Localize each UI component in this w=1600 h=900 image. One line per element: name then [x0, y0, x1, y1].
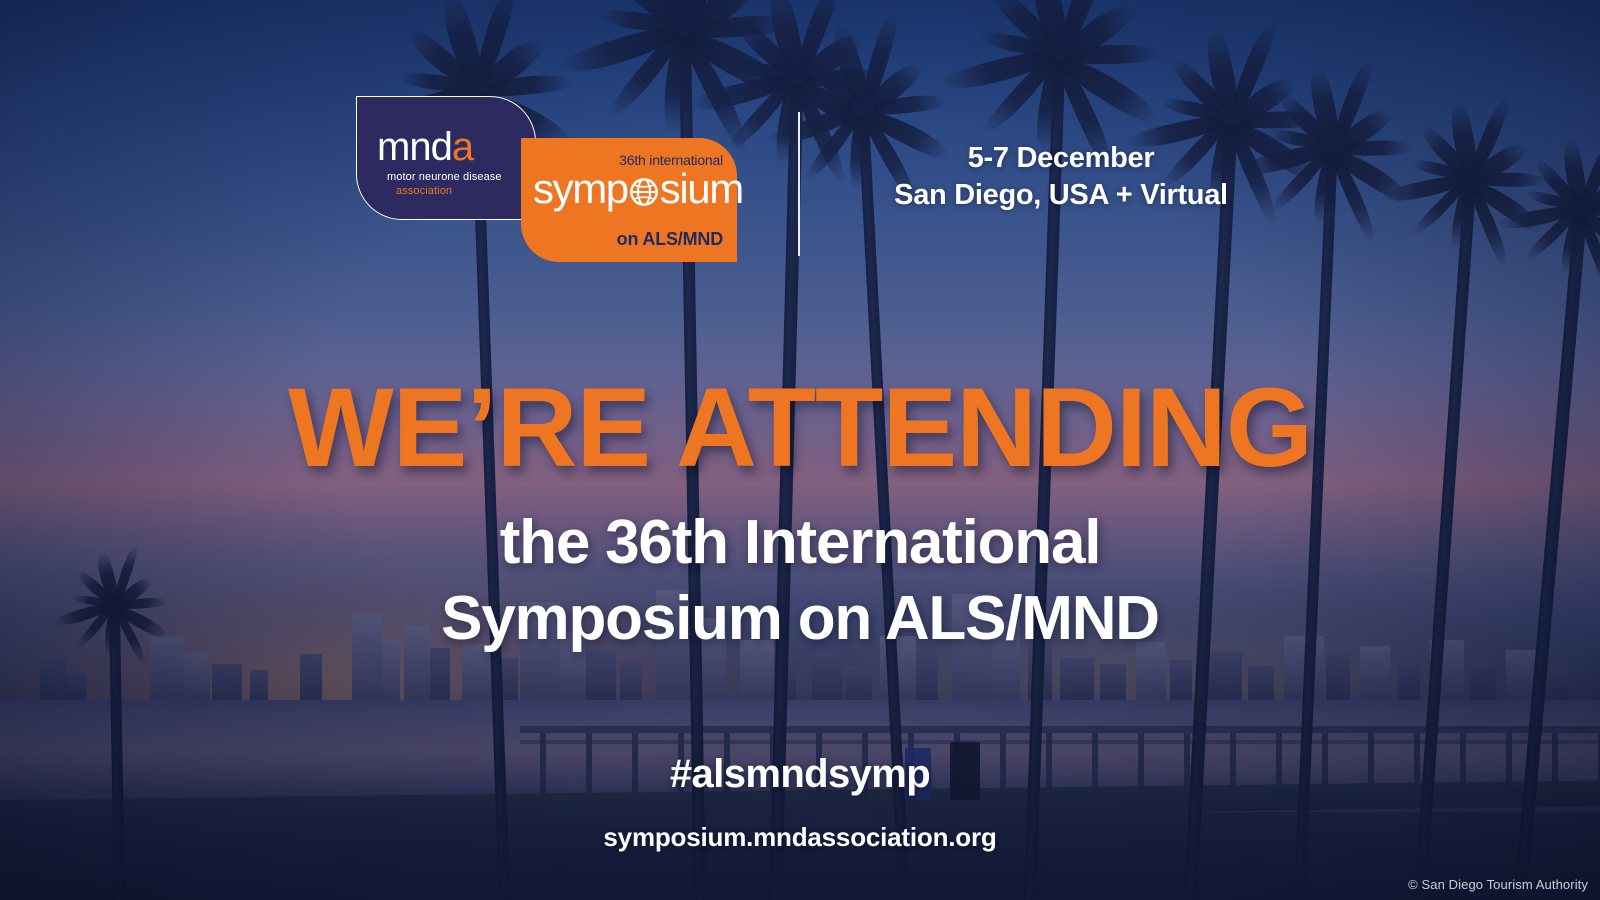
subtitle-line1: the 36th International [0, 505, 1600, 581]
mnda-logo-box[interactable]: mnda motor neurone disease association [356, 96, 536, 220]
event-location: San Diego, USA + Virtual [826, 177, 1296, 214]
event-details: 5-7 December San Diego, USA + Virtual [826, 140, 1296, 214]
page-title: WE’RE ATTENDING [0, 372, 1600, 484]
event-dates: 5-7 December [826, 140, 1296, 177]
symposium-strapline: on ALS/MND [617, 229, 723, 250]
mnda-wordmark-prefix: mnd [377, 125, 452, 169]
symposium-wordmark-after-globe: sium [660, 168, 743, 210]
logo-lockup[interactable]: mnda motor neurone disease association 3… [356, 96, 746, 266]
subtitle-line2: Symposium on ALS/MND [0, 581, 1600, 657]
mnda-wordmark: mnda [377, 127, 473, 167]
symposium-wordmark-before-globe: symp [533, 168, 628, 210]
mnda-wordmark-accent: a [452, 125, 473, 169]
globe-icon [629, 177, 659, 207]
photo-credit: © San Diego Tourism Authority [1408, 877, 1588, 892]
mnda-tagline-line2: association [396, 185, 452, 197]
subtitle: the 36th International Symposium on ALS/… [0, 505, 1600, 656]
event-hashtag: #alsmndsymp [0, 752, 1600, 797]
event-website-url[interactable]: symposium.mndassociation.org [0, 822, 1600, 853]
mnda-tagline-line1: motor neurone disease [387, 171, 502, 183]
symposium-wordmark: symp sium [533, 168, 743, 210]
symposium-logo-box[interactable]: 36th international symp sium on ALS/MND [521, 138, 737, 262]
vertical-divider [798, 112, 800, 256]
promo-banner: mnda motor neurone disease association 3… [0, 0, 1600, 900]
